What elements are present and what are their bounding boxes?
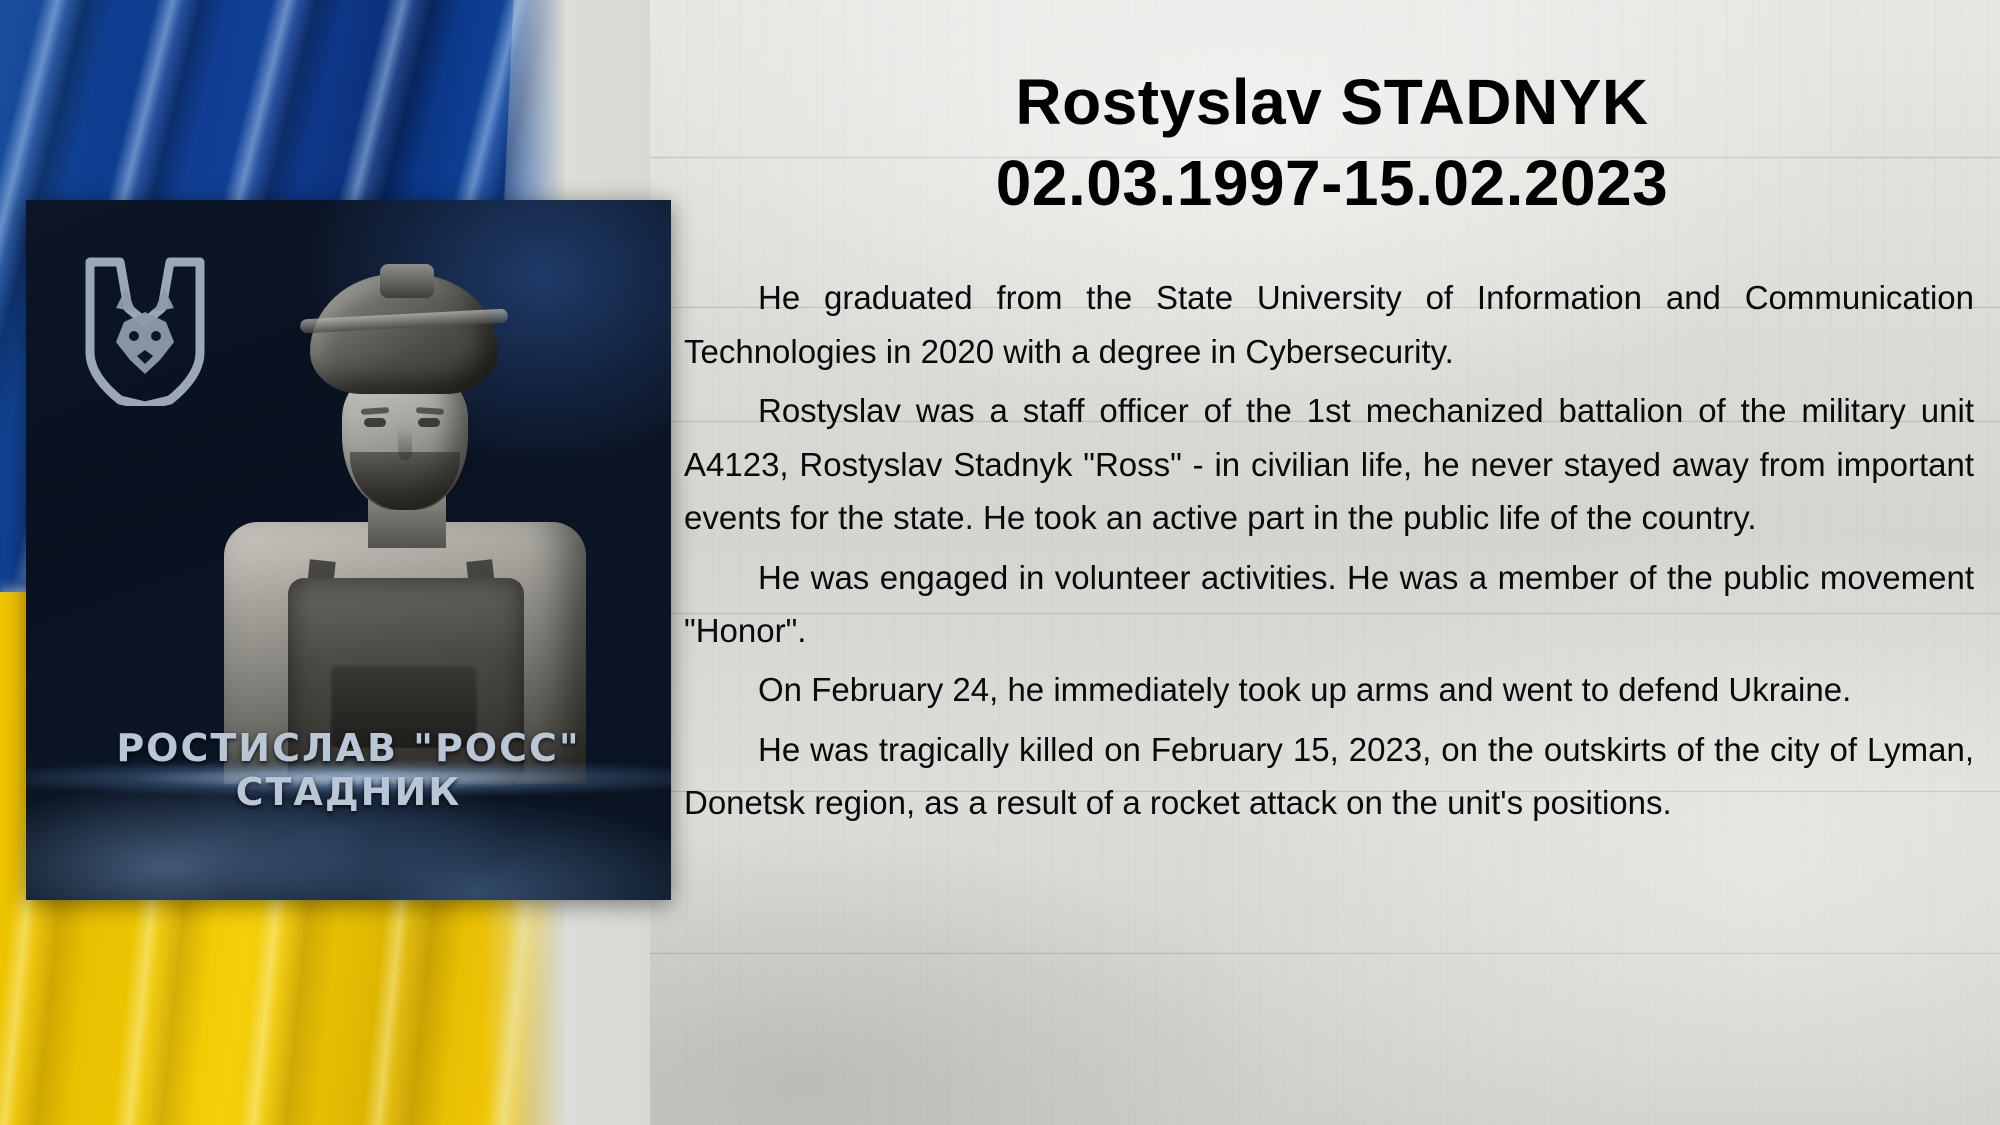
portrait-photo: РОСТИСЛАВ "РОСС" СТАДНИК xyxy=(26,200,671,900)
paragraph: He was engaged in volunteer activities. … xyxy=(684,551,1974,658)
paragraph: Rostyslav was a staff officer of the 1st… xyxy=(684,384,1974,544)
life-dates: 02.03.1997-15.02.2023 xyxy=(684,143,1980,224)
eye-right xyxy=(418,418,440,427)
wolf-head-shield-emblem xyxy=(82,256,208,406)
title-block: Rostyslav STADNYK 02.03.1997-15.02.2023 xyxy=(684,0,1980,223)
biography-text: He graduated from the State University o… xyxy=(684,271,1980,830)
paragraph: He was tragically killed on February 15,… xyxy=(684,723,1974,830)
paragraph: On February 24, he immediately took up a… xyxy=(684,663,1974,716)
eyebrow-right xyxy=(416,407,444,415)
photo-caption: РОСТИСЛАВ "РОСС" СТАДНИК xyxy=(26,726,671,814)
eye-left xyxy=(364,418,386,427)
page-title: Rostyslav STADNYK xyxy=(684,62,1980,143)
memorial-slide: РОСТИСЛАВ "РОСС" СТАДНИК Rostyslav STADN… xyxy=(0,0,2000,1125)
text-column: Rostyslav STADNYK 02.03.1997-15.02.2023 … xyxy=(684,0,1980,1125)
eyebrow-left xyxy=(361,407,389,415)
paragraph: He graduated from the State University o… xyxy=(684,271,1974,378)
nvg-mount-icon xyxy=(380,264,434,298)
